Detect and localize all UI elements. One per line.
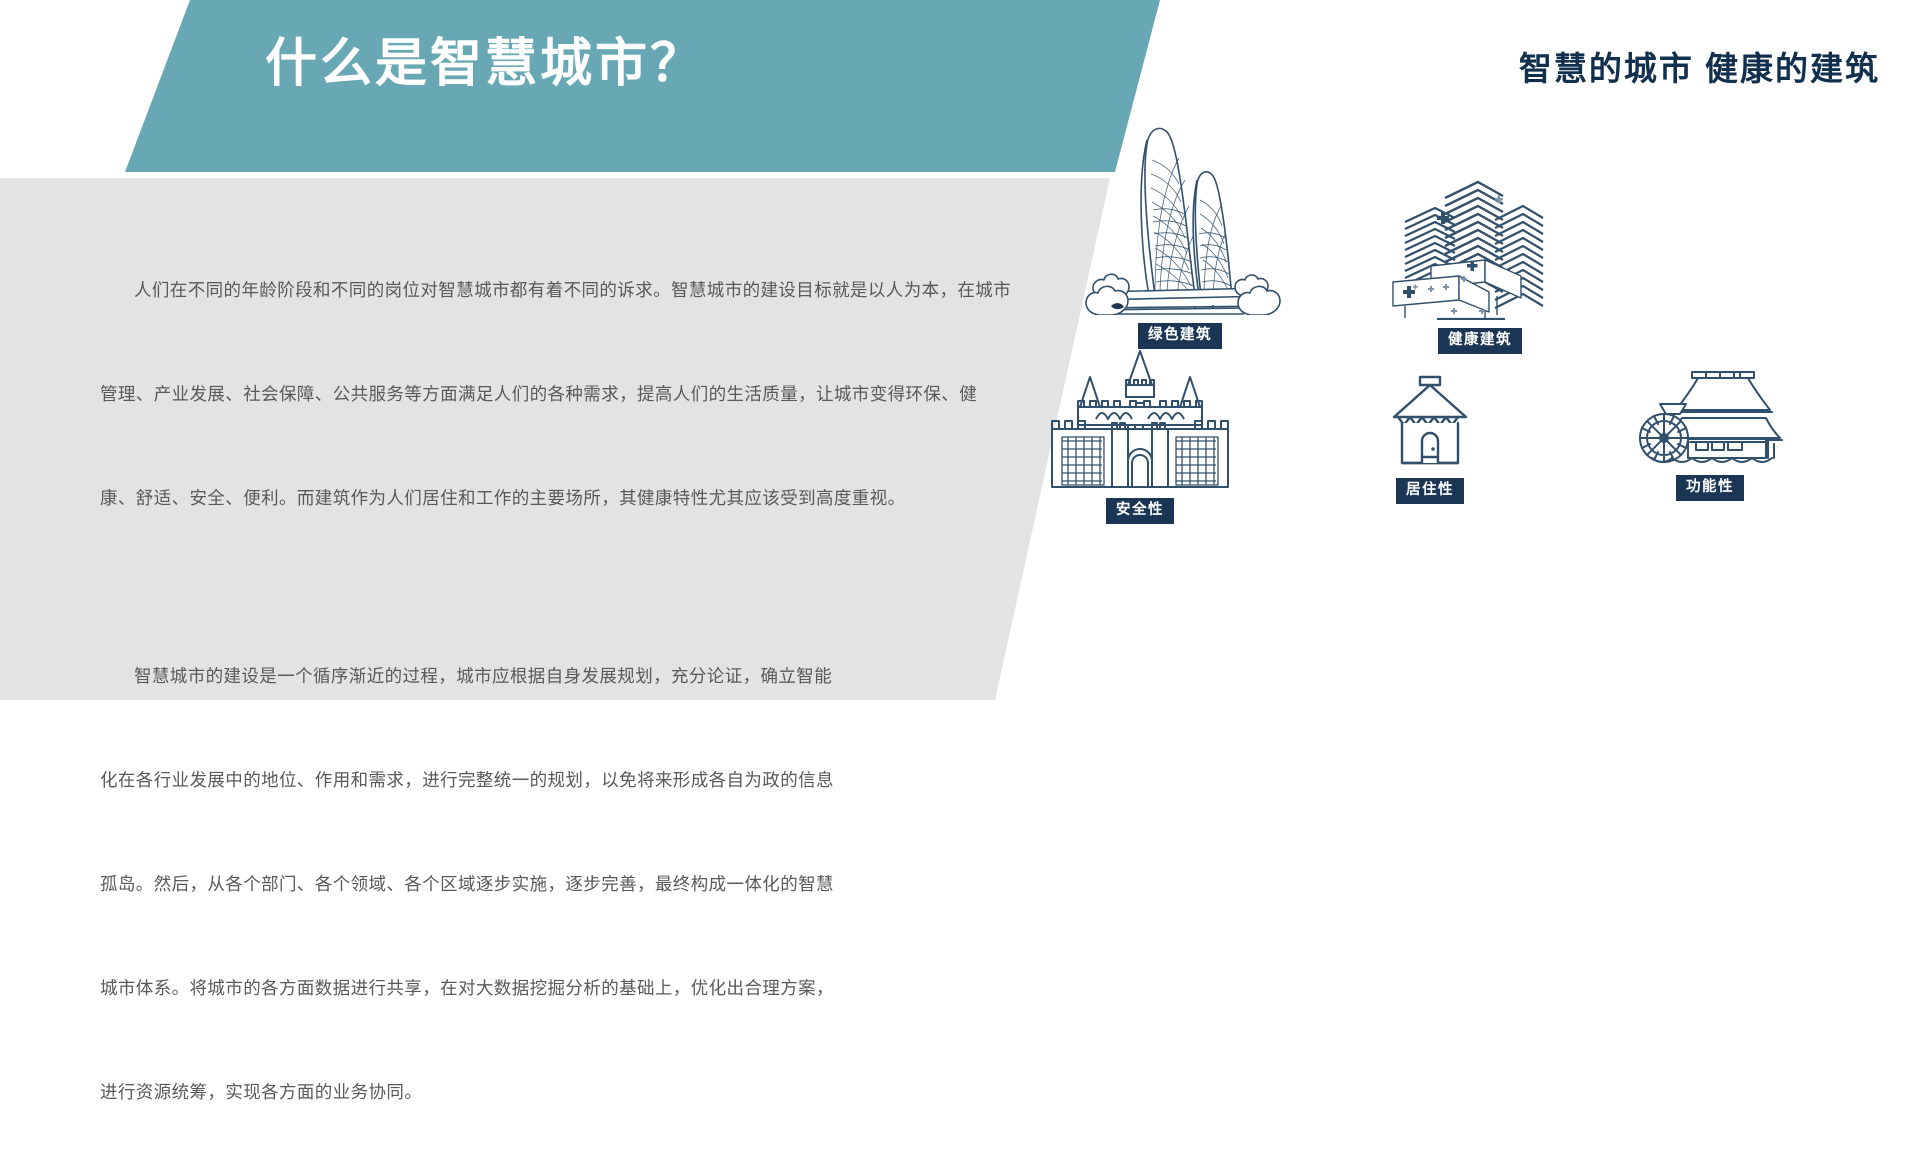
body-text-container: 人们在不同的年龄阶段和不同的岗位对智慧城市都有着不同的诉求。智慧城市的建设目标就… bbox=[0, 178, 1050, 700]
icon-cell-health-building: 健康建筑 bbox=[1330, 160, 1630, 354]
icon-grid: 绿色建筑 bbox=[1030, 110, 1920, 670]
label-safety: 安全性 bbox=[1106, 498, 1174, 524]
icon-cell-green-building: 绿色建筑 bbox=[1030, 110, 1330, 349]
paragraph-line: 人们在不同的年龄阶段和不同的岗位对智慧城市都有着不同的诉求。智慧城市的建设目标就… bbox=[100, 264, 1050, 316]
icon-cell-safety: 安全性 bbox=[990, 345, 1290, 524]
castle-icon bbox=[990, 345, 1290, 490]
twisted-towers-icon bbox=[1030, 110, 1330, 315]
label-functionality: 功能性 bbox=[1676, 475, 1744, 501]
headline-slogan: 智慧的城市 健康的建筑 bbox=[1519, 42, 1880, 90]
tag-wrapper: 安全性 bbox=[990, 498, 1290, 524]
paragraph-line: 化在各行业发展中的地位、作用和需求，进行完整统一的规划，以免将来形成各自为政的信… bbox=[100, 754, 1050, 806]
paragraph-line: 智慧城市的建设是一个循序渐近的过程，城市应根据自身发展规划，充分论证，确立智能 bbox=[100, 650, 1050, 702]
watermill-house-icon bbox=[1560, 362, 1860, 467]
tag-wrapper: 居住性 bbox=[1280, 478, 1580, 504]
paragraph-line: 城市体系。将城市的各方面数据进行共享，在对大数据挖掘分析的基础上，优化出合理方案… bbox=[100, 962, 1050, 1014]
icon-cell-functionality: 功能性 bbox=[1560, 362, 1860, 501]
poster-root: 什么是智慧城市？ 智慧的城市 健康的建筑 人们在不同的年龄阶段和不同的岗位对智慧… bbox=[0, 0, 1920, 700]
hospital-towers-icon bbox=[1330, 160, 1630, 320]
tag-wrapper: 健康建筑 bbox=[1330, 328, 1630, 354]
label-health-building: 健康建筑 bbox=[1438, 328, 1522, 354]
icon-cell-livability: 居住性 bbox=[1280, 365, 1580, 504]
house-icon bbox=[1280, 365, 1580, 470]
label-livability: 居住性 bbox=[1396, 478, 1464, 504]
page-title: 什么是智慧城市？ bbox=[265, 38, 705, 90]
paragraph-1: 人们在不同的年龄阶段和不同的岗位对智慧城市都有着不同的诉求。智慧城市的建设目标就… bbox=[0, 212, 1050, 576]
paragraph-line: 管理、产业发展、社会保障、公共服务等方面满足人们的各种需求，提高人们的生活质量，… bbox=[100, 368, 1050, 420]
paragraph-line: 康、舒适、安全、便利。而建筑作为人们居住和工作的主要场所，其健康特性尤其应该受到… bbox=[100, 472, 1050, 524]
paragraph-2: 智慧城市的建设是一个循序渐近的过程，城市应根据自身发展规划，充分论证，确立智能 … bbox=[0, 598, 1050, 1170]
tag-wrapper: 功能性 bbox=[1560, 475, 1860, 501]
paragraph-line: 进行资源统筹，实现各方面的业务协同。 bbox=[100, 1066, 1050, 1118]
paragraph-line: 孤岛。然后，从各个部门、各个领域、各个区域逐步实施，逐步完善，最终构成一体化的智… bbox=[100, 858, 1050, 910]
